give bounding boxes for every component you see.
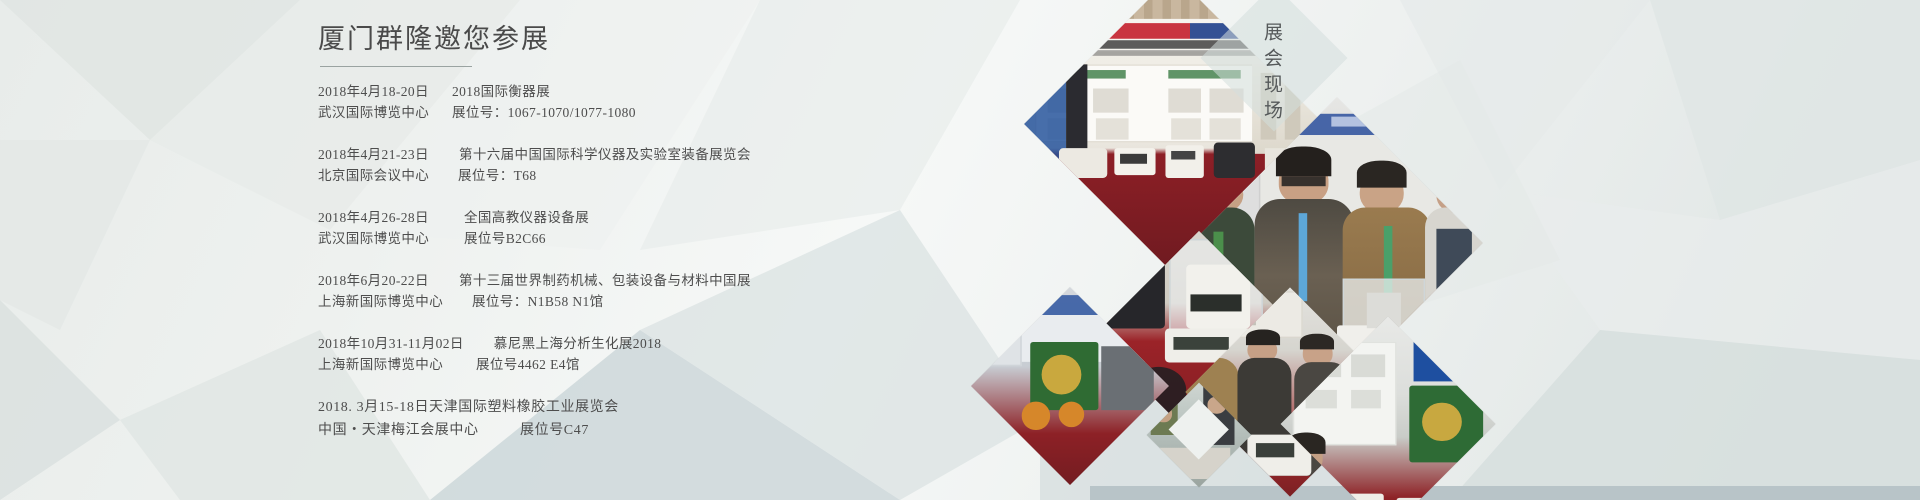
event-booth: 展位号：1067-1070/1077-1080: [440, 102, 636, 123]
event-row-date: 2018年4月21-23日 第十六届中国国际科学仪器及实验室装备展览会: [318, 144, 958, 165]
page-title: 厦门群隆邀您参展: [318, 22, 958, 57]
event-row-date: 2018年10月31-11月02日 慕尼黑上海分析生化展2018: [318, 333, 958, 354]
event-item: 2018年6月20-22日 第十三届世界制药机械、包装设备与材料中国展 上海新国…: [318, 270, 958, 312]
event-row-venue: 中国・天津梅江会展中心 展位号C47: [318, 419, 958, 442]
title-divider: [320, 66, 472, 67]
event-date: 2018年10月31-11月02日: [318, 333, 464, 354]
event-venue: 中国・天津梅江会展中心: [318, 419, 496, 442]
event-booth: 展位号C47: [496, 419, 589, 442]
event-row-date: 2018年4月18-20日 2018国际衡器展: [318, 81, 958, 102]
exhibition-info-panel: 厦门群隆邀您参展 2018年4月18-20日 2018国际衡器展 武汉国际博览中…: [318, 22, 958, 482]
exhibition-banner: 厦门群隆邀您参展 2018年4月18-20日 2018国际衡器展 武汉国际博览中…: [0, 0, 1920, 500]
event-row-date: 2018. 3月15-18日天津国际塑料橡胶工业展览会: [318, 396, 958, 419]
event-date: 2018. 3月15-18日天津国际塑料橡胶工业展览会: [318, 396, 619, 419]
event-venue: 武汉国际博览中心: [318, 228, 440, 249]
event-date: 2018年4月18-20日: [318, 81, 440, 102]
event-item: 2018. 3月15-18日天津国际塑料橡胶工业展览会 中国・天津梅江会展中心 …: [318, 396, 958, 442]
event-name: 第十六届中国国际科学仪器及实验室装备展览会: [429, 144, 751, 165]
background-shapes: [0, 0, 1920, 500]
event-venue: 上海新国际博览中心: [318, 291, 454, 312]
event-booth: 展位号B2C66: [440, 228, 546, 249]
event-item: 2018年4月21-23日 第十六届中国国际科学仪器及实验室装备展览会 北京国际…: [318, 144, 958, 186]
event-row-date: 2018年4月26-28日 全国高教仪器设备展: [318, 207, 958, 228]
event-name: 第十三届世界制药机械、包装设备与材料中国展: [429, 270, 751, 291]
event-venue: 武汉国际博览中心: [318, 102, 440, 123]
event-date: 2018年4月26-28日: [318, 207, 440, 228]
event-row-venue: 上海新国际博览中心 展位号：N1B58 N1馆: [318, 291, 958, 312]
event-item: 2018年4月26-28日 全国高教仪器设备展 武汉国际博览中心 展位号B2C6…: [318, 207, 958, 249]
event-booth: 展位号：T68: [440, 165, 537, 186]
event-item: 2018年10月31-11月02日 慕尼黑上海分析生化展2018 上海新国际博览…: [318, 333, 958, 375]
event-booth: 展位号：N1B58 N1馆: [454, 291, 604, 312]
event-row-venue: 北京国际会议中心 展位号：T68: [318, 165, 958, 186]
event-item: 2018年4月18-20日 2018国际衡器展 武汉国际博览中心 展位号：106…: [318, 81, 958, 123]
event-row-venue: 武汉国际博览中心 展位号B2C66: [318, 228, 958, 249]
event-row-venue: 武汉国际博览中心 展位号：1067-1070/1077-1080: [318, 102, 958, 123]
event-booth: 展位号4462 E4馆: [454, 354, 580, 375]
event-venue: 上海新国际博览中心: [318, 354, 454, 375]
event-date: 2018年4月21-23日: [318, 144, 429, 165]
event-venue: 北京国际会议中心: [318, 165, 440, 186]
event-name: 2018国际衡器展: [440, 81, 550, 102]
collage-caption: 展会现场: [1258, 22, 1285, 126]
event-date: 2018年6月20-22日: [318, 270, 429, 291]
event-name: 全国高教仪器设备展: [440, 207, 589, 228]
event-row-venue: 上海新国际博览中心 展位号4462 E4馆: [318, 354, 958, 375]
event-row-date: 2018年6月20-22日 第十三届世界制药机械、包装设备与材料中国展: [318, 270, 958, 291]
event-name: 慕尼黑上海分析生化展2018: [464, 333, 662, 354]
